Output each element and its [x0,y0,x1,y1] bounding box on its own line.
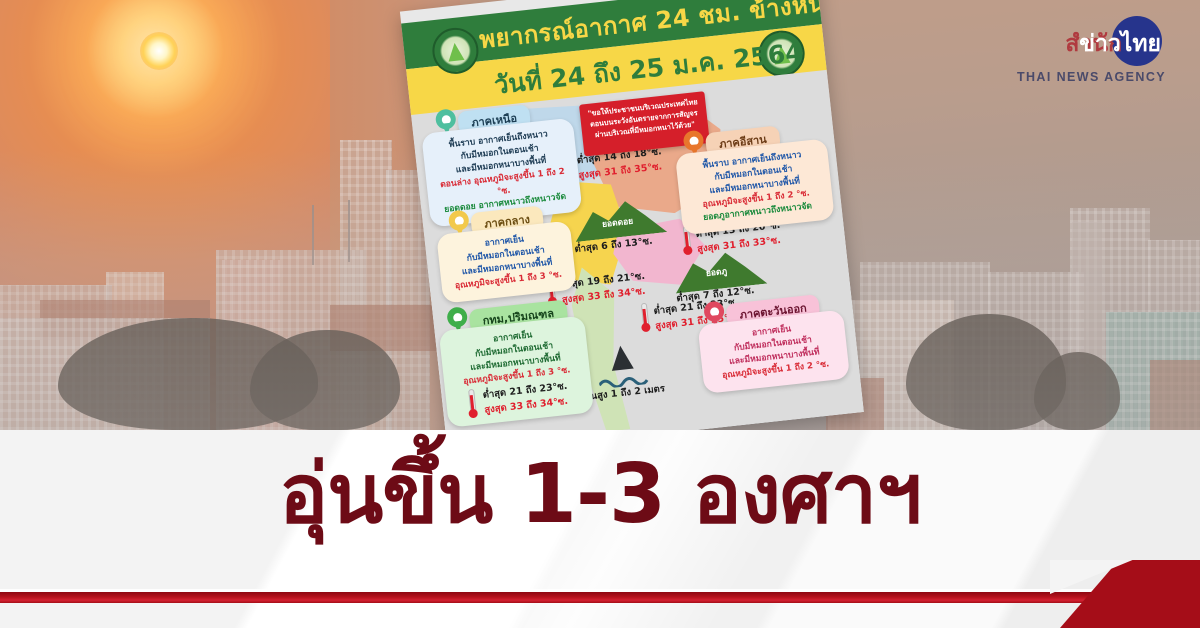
peak-phu-label: ยอดภู [705,264,728,280]
thermometer-icon [466,388,478,419]
east-region-bubble: อากาศเย็น กับมีหมอกในตอนเช้า และมีหมอกหน… [697,310,850,394]
logo-thai-part2: ข่าวไทย [1079,26,1161,62]
bangkok-region-bubble: อากาศเย็น กับมีหมอกในตอนเช้า และมีหมอกหน… [439,316,595,428]
sun-icon [140,32,178,70]
weather-forecast-card: พยากรณ์อากาศ 24 ชม. ข้างหน้า วันที่ 24 ถ… [400,0,864,457]
thermometer-icon [639,303,651,334]
central-region-bubble: อากาศเย็น กับมีหมอกในตอนเช้า และมีหมอกหน… [436,221,577,304]
sailboat-icon [609,345,633,371]
northeast-region-bubble: พื้นราบ อากาศเย็นถึงหนาว กับมีหมอกในตอนเ… [675,138,835,235]
headline-text: อุ่นขึ้น 1-3 องศาฯ [0,452,1200,538]
screenshot-root: สำนัก ข่าวไทย THAI NEWS AGENCY พยากรณ์อา… [0,0,1200,628]
red-accent-bar [0,592,1200,603]
thailand-map: ยอดดอย ต่ำสุด 6 ถึง 13°ซ. ยอดภู ต่ำสุด 7… [411,70,864,457]
thai-news-agency-logo: สำนัก ข่าวไทย THAI NEWS AGENCY [1012,14,1180,96]
logo-english-label: THAI NEWS AGENCY [1017,70,1166,84]
